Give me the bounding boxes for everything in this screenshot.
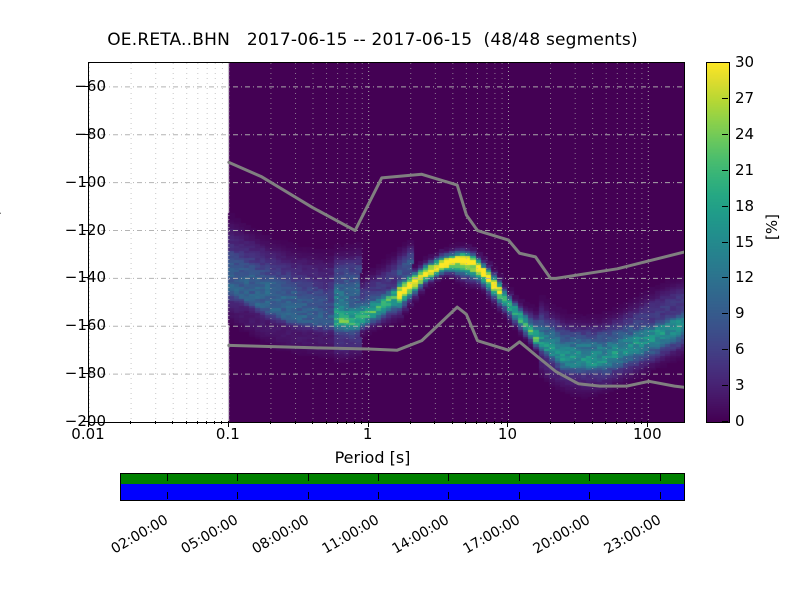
x-axis-tick-mark	[295, 421, 296, 424]
x-axis-tick-label: 0.01	[71, 425, 104, 443]
x-axis-tick-mark	[361, 421, 362, 424]
y-axis-tick-mark	[83, 86, 88, 87]
x-axis-tick-mark	[221, 421, 222, 424]
coverage-tick-mark	[660, 474, 661, 481]
x-axis-tick-mark	[574, 421, 575, 424]
colorbar-tick-label: 21	[735, 161, 754, 179]
y-axis-tick-mark	[83, 134, 88, 135]
colorbar-tick-label: 6	[735, 340, 745, 358]
colorbar-tick-mark	[722, 385, 728, 386]
colorbar-tick-mark	[722, 62, 728, 63]
coverage-time-tick-label: 17:00:00	[452, 512, 522, 562]
x-axis-tick-mark	[605, 421, 606, 424]
coverage-tick-mark	[378, 492, 379, 499]
colorbar-label: [%]	[763, 214, 781, 240]
x-axis-tick-mark	[214, 421, 215, 424]
colorbar	[706, 62, 730, 423]
colorbar-tick-mark	[722, 170, 728, 171]
coverage-tick-mark	[660, 492, 661, 499]
x-axis-tick-mark	[501, 421, 502, 424]
y-axis-label-units: [m²/s⁴/Hz]	[0, 78, 1, 155]
x-axis-tick-mark	[186, 421, 187, 424]
x-axis-tick-mark	[312, 421, 313, 424]
coverage-time-tick-label: 20:00:00	[523, 512, 593, 562]
x-axis-tick-mark	[155, 421, 156, 424]
coverage-time-tick-label: 11:00:00	[312, 512, 382, 562]
colorbar-tick-label: 27	[735, 89, 754, 107]
y-axis-label-suffix: [dB]	[0, 39, 1, 78]
x-axis-tick-mark	[354, 421, 355, 424]
coverage-tick-mark	[378, 474, 379, 481]
x-axis-tick-mark	[326, 421, 327, 424]
x-axis-tick-mark	[206, 421, 207, 424]
x-axis-tick-mark	[434, 421, 435, 424]
coverage-tick-mark	[519, 474, 520, 481]
x-axis-tick-mark	[130, 421, 131, 424]
x-axis-tick-label: 100	[633, 425, 662, 443]
x-axis-tick-mark	[494, 421, 495, 424]
colorbar-tick-mark	[722, 313, 728, 314]
x-axis-tick-mark	[270, 421, 271, 424]
colorbar-tick-label: 30	[735, 53, 754, 71]
ppsd-figure: OE.RETA..BHN 2017-06-15 -- 2017-06-15 (4…	[0, 0, 800, 600]
ppsd-axes	[88, 62, 685, 423]
coverage-tick-mark	[589, 492, 590, 499]
coverage-time-tick-label: 23:00:00	[593, 512, 663, 562]
x-axis-tick-mark	[465, 421, 466, 424]
coverage-tick-mark	[448, 492, 449, 499]
y-axis-tick-label: −80	[74, 125, 106, 143]
x-axis-tick-mark	[476, 421, 477, 424]
x-axis-tick-mark	[410, 421, 411, 424]
x-axis-tick-mark	[592, 421, 593, 424]
coverage-bar	[120, 473, 685, 501]
coverage-time-tick-label: 02:00:00	[101, 512, 171, 562]
colorbar-tick-label: 9	[735, 304, 745, 322]
coverage-tick-mark	[237, 474, 238, 481]
y-axis-tick-mark	[83, 230, 88, 231]
x-axis-tick-mark	[486, 421, 487, 424]
colorbar-tick-label: 24	[735, 125, 754, 143]
colorbar-tick-label: 18	[735, 197, 754, 215]
y-axis-tick-mark	[83, 277, 88, 278]
x-axis-tick-mark	[452, 421, 453, 424]
colorbar-tick-label: 3	[735, 376, 745, 394]
x-axis-tick-mark	[337, 421, 338, 424]
coverage-tick-mark	[308, 474, 309, 481]
colorbar-tick-mark	[722, 421, 728, 422]
x-axis-tick-mark	[641, 421, 642, 424]
x-axis-tick-mark	[550, 421, 551, 424]
colorbar-tick-label: 0	[735, 412, 745, 430]
coverage-tick-mark	[519, 492, 520, 499]
colorbar-tick-label: 12	[735, 268, 754, 286]
colorbar-tick-mark	[722, 206, 728, 207]
colorbar-gradient	[707, 63, 729, 422]
coverage-time-tick-label: 05:00:00	[171, 512, 241, 562]
x-axis-tick-label: 1	[363, 425, 373, 443]
y-axis-tick-mark	[83, 182, 88, 183]
y-axis-tick-mark	[83, 325, 88, 326]
noise-model-curves	[89, 63, 684, 422]
x-axis-tick-label: 0.1	[216, 425, 240, 443]
y-axis-label: Amplitude [m²/s⁴/Hz] [dB]	[0, 39, 1, 242]
x-axis-tick-mark	[346, 421, 347, 424]
x-axis-tick-mark	[626, 421, 627, 424]
y-axis-label-prefix: Amplitude	[0, 155, 1, 242]
x-axis-tick-mark	[172, 421, 173, 424]
coverage-bar-blue	[121, 484, 684, 500]
coverage-tick-mark	[308, 492, 309, 499]
colorbar-tick-mark	[722, 242, 728, 243]
colorbar-tick-mark	[722, 98, 728, 99]
colorbar-tick-mark	[722, 277, 728, 278]
y-axis-tick-mark	[83, 373, 88, 374]
coverage-bar-green	[121, 474, 684, 484]
coverage-tick-mark	[589, 474, 590, 481]
coverage-tick-mark	[448, 474, 449, 481]
coverage-tick-mark	[167, 474, 168, 481]
colorbar-tick-mark	[722, 134, 728, 135]
x-axis-tick-label: 10	[498, 425, 517, 443]
x-axis-tick-mark	[197, 421, 198, 424]
colorbar-tick-mark	[722, 349, 728, 350]
x-axis-tick-mark	[616, 421, 617, 424]
x-axis-tick-mark	[634, 421, 635, 424]
figure-title: OE.RETA..BHN 2017-06-15 -- 2017-06-15 (4…	[0, 30, 745, 50]
coverage-tick-mark	[237, 492, 238, 499]
y-axis-tick-label: −60	[74, 77, 106, 95]
coverage-time-tick-label: 14:00:00	[382, 512, 452, 562]
x-axis-label: Period [s]	[0, 448, 745, 467]
coverage-time-tick-label: 08:00:00	[241, 512, 311, 562]
coverage-tick-mark	[167, 492, 168, 499]
colorbar-tick-label: 15	[735, 233, 754, 251]
